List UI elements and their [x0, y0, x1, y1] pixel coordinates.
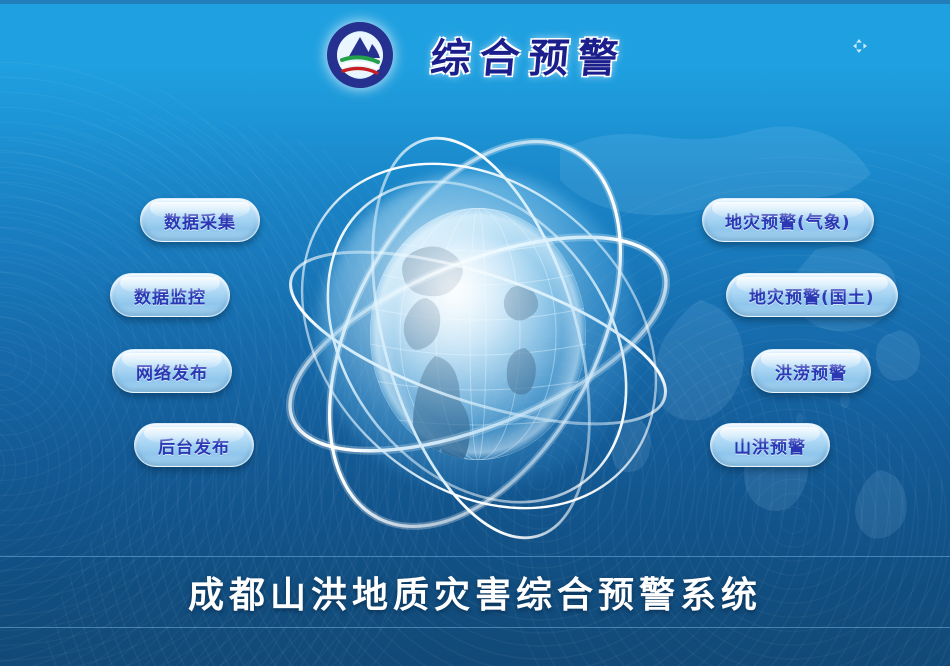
- menu-button-torrent-warning[interactable]: 山洪预警: [710, 423, 830, 467]
- header: 综合预警: [0, 0, 950, 110]
- menu-button-label: 地灾预警(国土): [749, 283, 875, 308]
- menu-button-label: 网络发布: [136, 359, 208, 384]
- menu-button-web-publish[interactable]: 网络发布: [112, 349, 232, 393]
- system-title: 成都山洪地质灾害综合预警系统: [0, 556, 950, 628]
- menu-button-label: 地灾预警(气象): [725, 208, 851, 233]
- menu-button-label: 后台发布: [158, 433, 230, 458]
- menu-button-label: 山洪预警: [734, 433, 806, 458]
- menu-button-flood-warning[interactable]: 洪涝预警: [751, 349, 871, 393]
- menu-button-label: 数据采集: [164, 208, 236, 233]
- resize-arrows-icon[interactable]: [852, 38, 868, 54]
- footer-band: 成都山洪地质灾害综合预警系统: [0, 556, 950, 628]
- globe-glow: [318, 172, 638, 492]
- menu-button-label: 洪涝预警: [775, 359, 847, 384]
- app-root: 综合预警 数据采集 数据监控 网络发布 后台发布 地灾预警(气象): [0, 0, 950, 666]
- globe-graphic: [263, 112, 693, 552]
- menu-button-geo-warning-land[interactable]: 地灾预警(国土): [726, 273, 898, 317]
- menu-button-backend-publish[interactable]: 后台发布: [134, 423, 254, 467]
- page-title: 综合预警: [428, 26, 629, 84]
- menu-button-label: 数据监控: [134, 283, 206, 308]
- menu-button-data-collection[interactable]: 数据采集: [140, 198, 260, 242]
- mountain-wave-emblem-icon: [323, 18, 397, 92]
- menu-button-data-monitor[interactable]: 数据监控: [110, 273, 230, 317]
- menu-button-geo-warning-meteorology[interactable]: 地灾预警(气象): [702, 198, 874, 242]
